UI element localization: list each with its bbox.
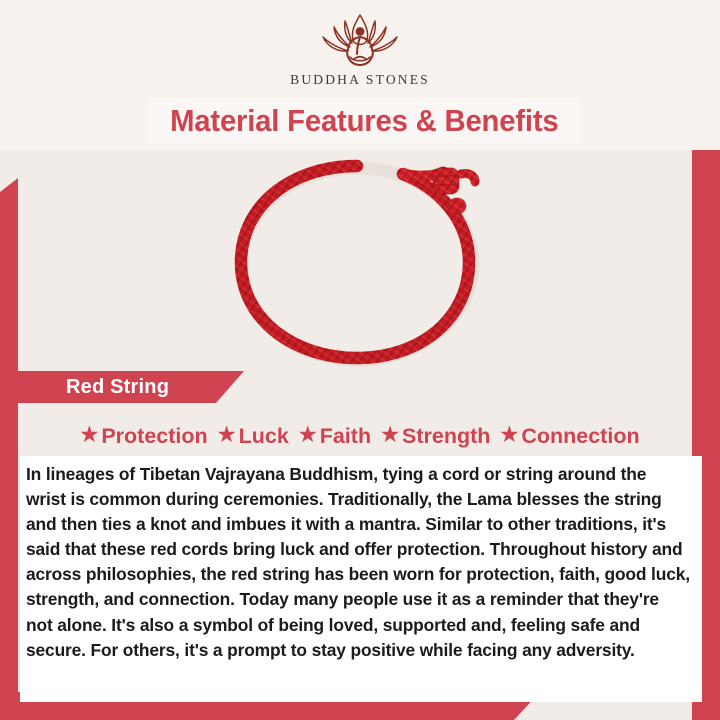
benefit-item-protection: ★ Protection (76, 424, 211, 449)
material-name-banner: Red String (18, 371, 244, 403)
benefit-item-strength: ★ Strength (377, 424, 494, 449)
benefit-item-connection: ★ Connection (496, 424, 643, 449)
star-icon: ★ (500, 425, 518, 445)
benefit-item-luck: ★ Luck (214, 424, 293, 449)
benefit-label: Faith (320, 424, 371, 449)
benefit-label: Protection (101, 424, 207, 449)
infographic-page: BUDDHA STONES Material Features & Benefi… (0, 0, 720, 720)
star-icon: ★ (381, 425, 399, 445)
benefit-label: Luck (239, 424, 289, 449)
page-title-plate: Material Features & Benefits (148, 98, 580, 144)
benefit-label: Strength (402, 424, 490, 449)
star-icon: ★ (218, 425, 236, 445)
header: BUDDHA STONES Material Features & Benefi… (0, 0, 720, 150)
red-string-braided-bracelet (225, 154, 495, 369)
benefit-label: Connection (521, 424, 639, 449)
brand-logo: BUDDHA STONES (0, 12, 720, 88)
description-text: In lineages of Tibetan Vajrayana Buddhis… (26, 462, 690, 663)
product-image (0, 150, 720, 372)
material-name: Red String (18, 376, 169, 399)
brand-name: BUDDHA STONES (290, 72, 430, 88)
star-icon: ★ (80, 425, 98, 445)
page-title: Material Features & Benefits (170, 104, 558, 139)
description-panel: In lineages of Tibetan Vajrayana Buddhis… (20, 456, 702, 702)
lotus-meditation-icon (317, 12, 403, 70)
benefit-item-faith: ★ Faith (295, 424, 375, 449)
benefits-list: ★ Protection ★ Luck ★ Faith ★ Strength ★… (18, 418, 702, 454)
star-icon: ★ (299, 425, 317, 445)
